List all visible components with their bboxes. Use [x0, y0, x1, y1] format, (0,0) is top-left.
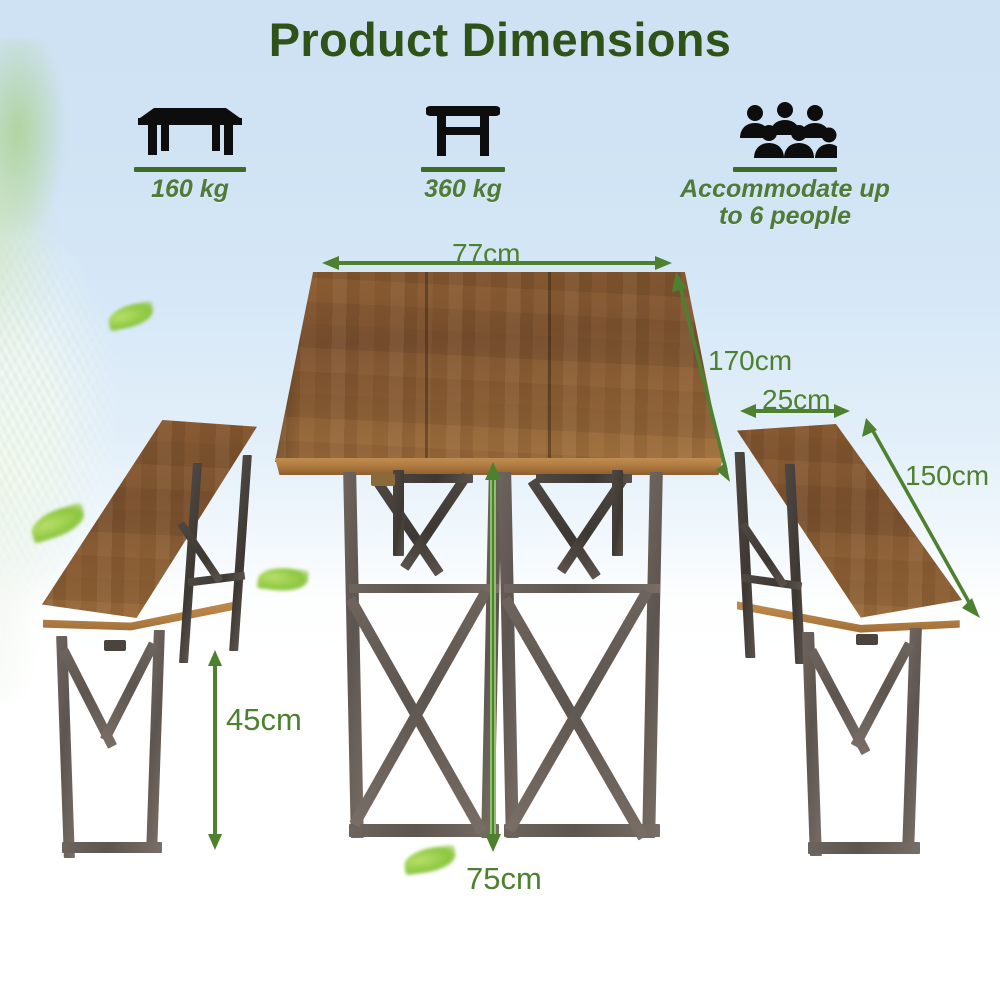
table-leg-frame-right — [500, 472, 665, 840]
table-top-seam-left — [425, 272, 428, 462]
table-top-seam-right — [548, 272, 551, 462]
table-leg-far-right — [612, 470, 623, 556]
bench-right-latch — [856, 634, 878, 645]
dimension-label-170cm: 170cm — [708, 345, 792, 377]
table-latch — [371, 474, 395, 486]
dimension-label-75cm: 75cm — [466, 861, 542, 897]
bench-right-leg-far — [738, 452, 808, 672]
dimension-label-25cm: 25cm — [762, 384, 830, 416]
table-top-surface — [275, 272, 723, 462]
dimension-label-150cm: 150cm — [905, 460, 989, 492]
infographic-canvas: Product Dimensions 160 kg — [0, 0, 1000, 1000]
dimension-label-77cm: 77cm — [452, 238, 520, 270]
bench-right-leg-near — [800, 628, 930, 860]
